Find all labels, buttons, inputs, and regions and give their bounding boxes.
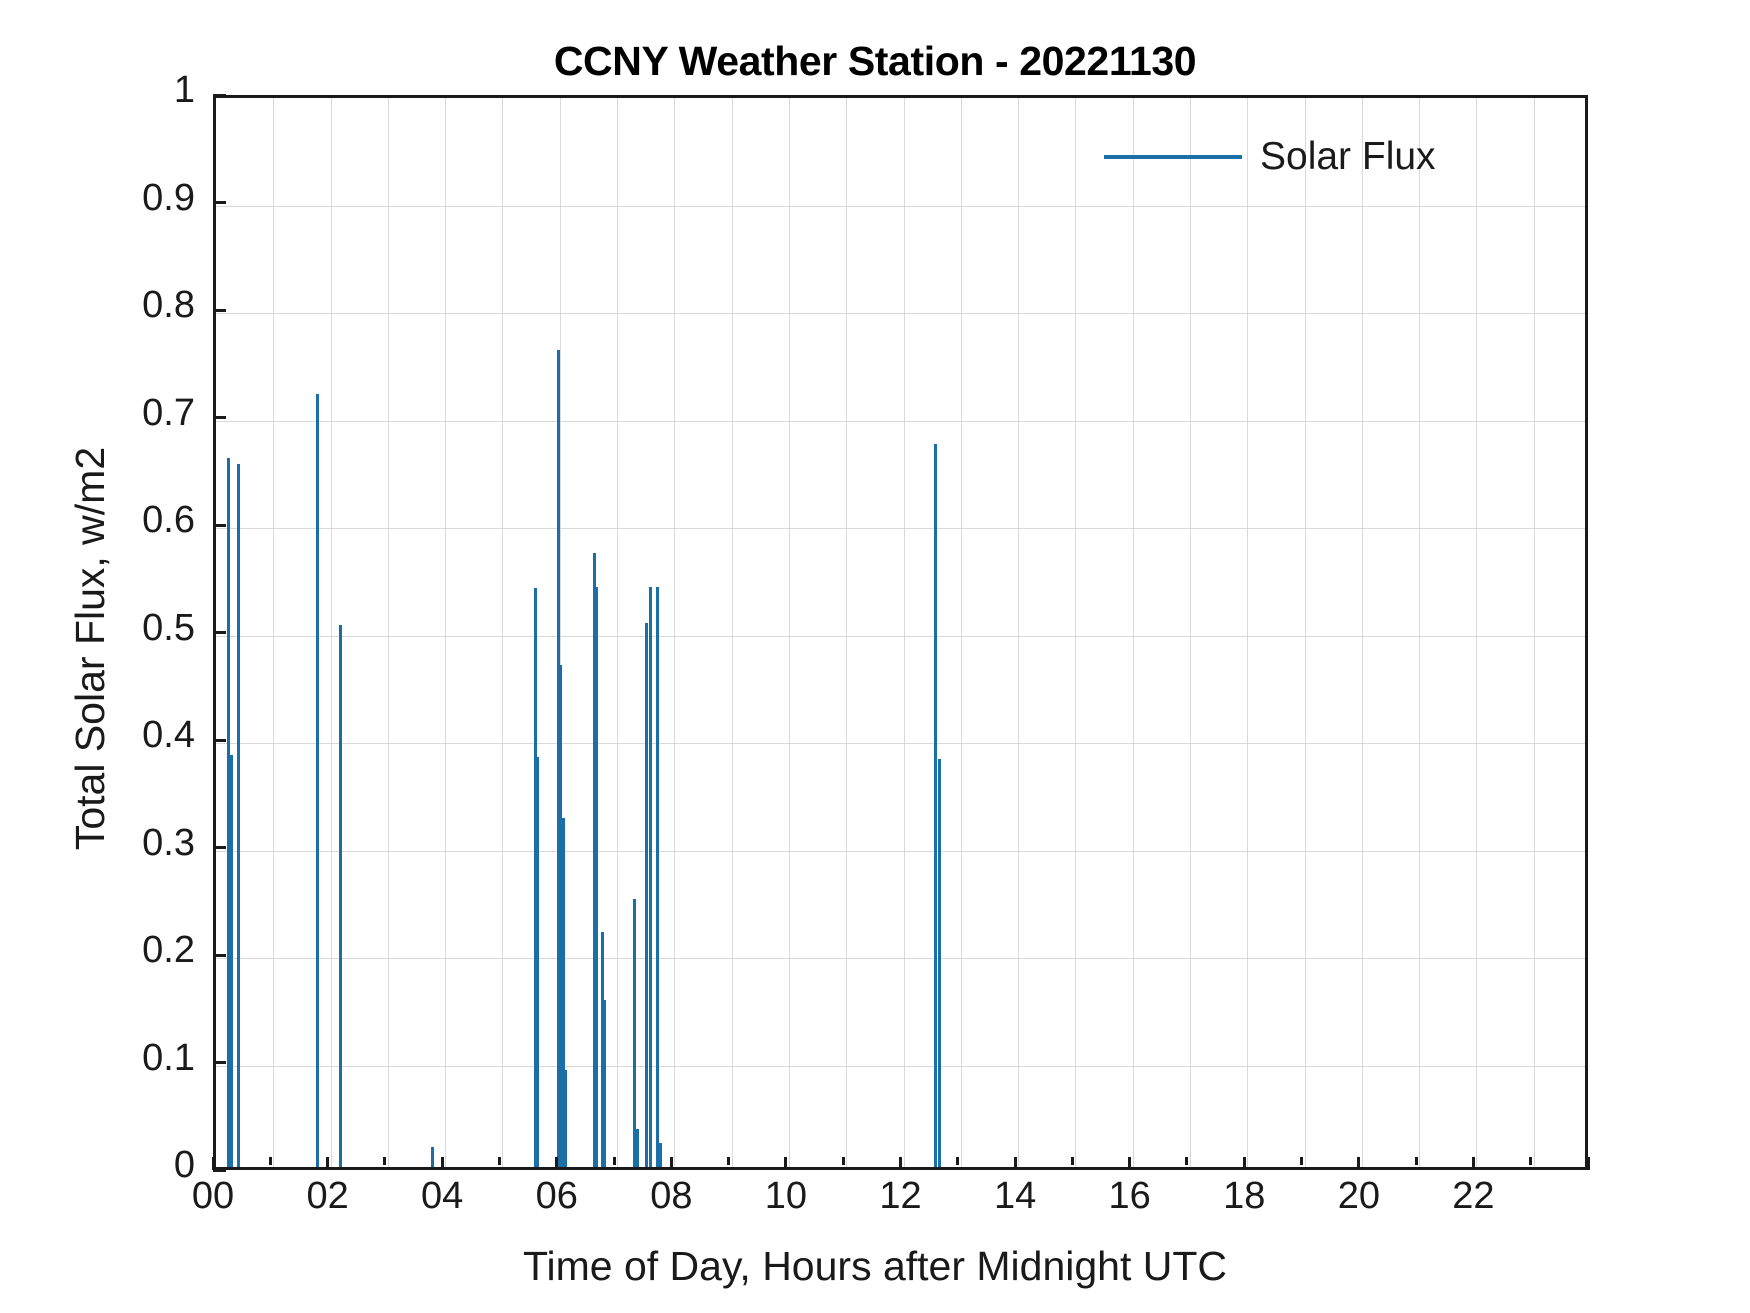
- x-tick-mark: [441, 1157, 444, 1170]
- x-tick-label: 10: [726, 1175, 846, 1218]
- y-tick-label: 0.6: [142, 499, 195, 542]
- y-tick-label: 0.3: [142, 822, 195, 865]
- x-tick-mark: [670, 1157, 673, 1170]
- data-spike: [636, 1129, 639, 1167]
- x-tick-mark: [1587, 1157, 1590, 1170]
- y-tick-mark: [213, 954, 226, 957]
- data-spike: [339, 625, 342, 1167]
- data-spike: [536, 757, 539, 1167]
- x-tick-mark-minor: [1529, 1157, 1532, 1165]
- data-spike: [431, 1147, 434, 1167]
- y-tick-mark: [213, 309, 226, 312]
- y-tick-mark: [213, 846, 226, 849]
- x-tick-mark: [212, 1157, 215, 1170]
- x-tick-mark: [326, 1157, 329, 1170]
- x-tick-label: 18: [1184, 1175, 1304, 1218]
- legend-item-label: Solar Flux: [1260, 135, 1436, 179]
- y-tick-mark: [213, 416, 226, 419]
- x-tick-label: 20: [1299, 1175, 1419, 1218]
- y-tick-label: 1: [174, 69, 195, 112]
- x-tick-label: 22: [1413, 1175, 1533, 1218]
- data-spike: [230, 755, 233, 1167]
- x-tick-mark-minor: [1071, 1157, 1074, 1165]
- x-tick-mark: [784, 1157, 787, 1170]
- figure-canvas: CCNY Weather Station - 20221130 Solar Fl…: [0, 0, 1750, 1313]
- legend-line-swatch: [1104, 155, 1242, 159]
- x-tick-mark: [1128, 1157, 1131, 1170]
- legend[interactable]: Solar Flux: [1096, 118, 1566, 196]
- page-title: CCNY Weather Station - 20221130: [0, 38, 1750, 85]
- x-tick-label: 02: [268, 1175, 388, 1218]
- data-spike: [237, 464, 240, 1167]
- x-tick-mark: [1357, 1157, 1360, 1170]
- data-spike: [659, 1143, 662, 1167]
- data-spike: [656, 587, 659, 1168]
- y-axis-title: Total Solar Flux, w/m2: [67, 111, 114, 1186]
- data-spike: [938, 759, 941, 1168]
- x-tick-mark: [1472, 1157, 1475, 1170]
- y-tick-mark: [213, 94, 226, 97]
- y-tick-mark: [213, 1061, 226, 1064]
- y-tick-label: 0.7: [142, 392, 195, 435]
- x-tick-mark: [1014, 1157, 1017, 1170]
- x-tick-mark-minor: [1415, 1157, 1418, 1165]
- x-tick-label: 06: [497, 1175, 617, 1218]
- x-tick-mark-minor: [383, 1157, 386, 1165]
- data-spike: [603, 1000, 606, 1167]
- y-tick-mark: [213, 201, 226, 204]
- data-spike: [564, 1070, 567, 1167]
- x-tick-mark-minor: [269, 1157, 272, 1165]
- x-tick-label: 04: [382, 1175, 502, 1218]
- x-tick-mark: [555, 1157, 558, 1170]
- x-tick-mark-minor: [727, 1157, 730, 1165]
- x-tick-label: 00: [153, 1175, 273, 1218]
- data-spike: [633, 899, 636, 1167]
- x-tick-label: 12: [841, 1175, 961, 1218]
- x-tick-mark: [1243, 1157, 1246, 1170]
- y-tick-mark: [213, 524, 226, 527]
- y-tick-label: 0.5: [142, 607, 195, 650]
- y-tick-mark: [213, 1169, 226, 1172]
- plot-area: Solar Flux: [213, 95, 1588, 1170]
- series-solar-flux: [216, 98, 1585, 1167]
- data-spike: [934, 444, 937, 1167]
- y-tick-label: 0.8: [142, 284, 195, 327]
- y-tick-label: 0.4: [142, 714, 195, 757]
- x-tick-label: 14: [955, 1175, 1075, 1218]
- y-tick-label: 0.1: [142, 1037, 195, 1080]
- data-spike: [316, 394, 319, 1167]
- x-tick-label: 16: [1070, 1175, 1190, 1218]
- x-tick-mark-minor: [956, 1157, 959, 1165]
- x-tick-mark-minor: [842, 1157, 845, 1165]
- x-tick-mark-minor: [1300, 1157, 1303, 1165]
- y-tick-mark: [213, 631, 226, 634]
- y-tick-label: 0.9: [142, 177, 195, 220]
- x-axis-title: Time of Day, Hours after Midnight UTC: [0, 1243, 1750, 1290]
- x-tick-mark-minor: [498, 1157, 501, 1165]
- data-spike: [649, 587, 652, 1168]
- y-tick-mark: [213, 739, 226, 742]
- x-tick-label: 08: [611, 1175, 731, 1218]
- data-spike: [595, 587, 598, 1168]
- x-tick-mark-minor: [613, 1157, 616, 1165]
- y-tick-label: 0.2: [142, 929, 195, 972]
- x-tick-mark-minor: [1185, 1157, 1188, 1165]
- x-tick-mark: [899, 1157, 902, 1170]
